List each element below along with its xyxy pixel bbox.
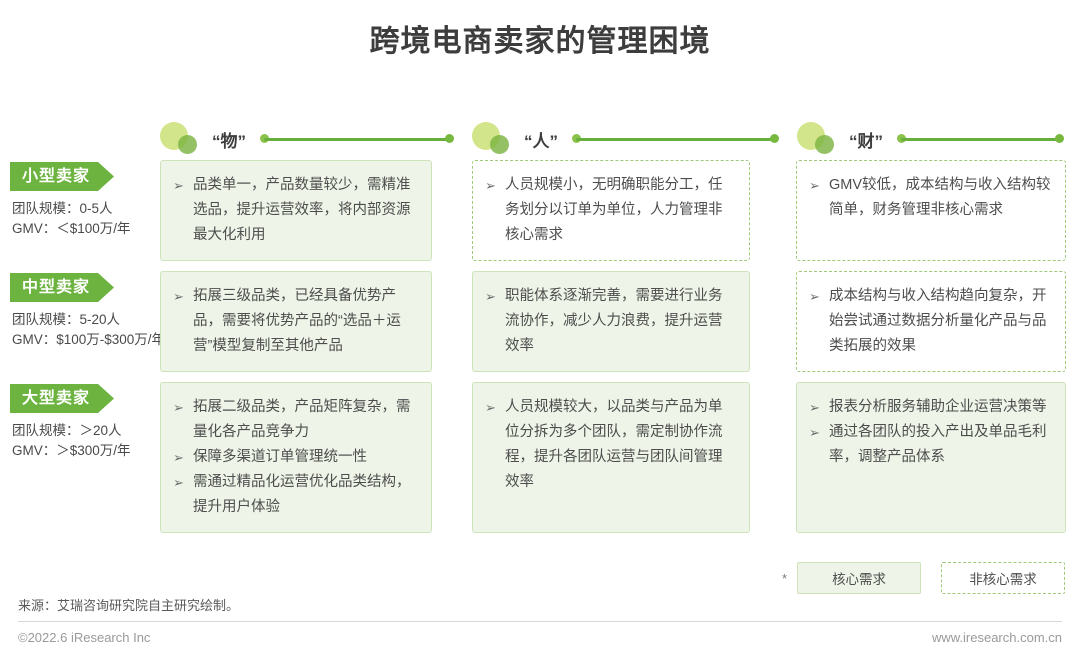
list-item: 成本结构与收入结构趋向复杂，开始尝试通过数据分析量化产品与品类拓展的效果 bbox=[809, 284, 1051, 359]
circle-small-icon bbox=[178, 135, 197, 154]
legend-noncore: 非核心需求 bbox=[941, 562, 1065, 594]
list-item: 拓展三级品类，已经具备优势产品，需要将优势产品的“选品＋运营”模型复制至其他产品 bbox=[173, 284, 417, 359]
table-row: 小型卖家 团队规模：0-5人 GMV：＜$100万/年 品类单一，产品数量较少，… bbox=[0, 160, 1080, 261]
row-label-small-seller: 小型卖家 团队规模：0-5人 GMV：＜$100万/年 bbox=[10, 160, 160, 261]
bullet-list: GMV较低，成本结构与收入结构较简单，财务管理非核心需求 bbox=[809, 173, 1051, 223]
bullet-list: 人员规模小，无明确职能分工，任务划分以订单为单位，人力管理非核心需求 bbox=[485, 173, 735, 248]
row-meta: 团队规模：5-20人 GMV：$100万-$300万/年 bbox=[10, 310, 160, 350]
matrix-board: “物” “人” “财” bbox=[0, 118, 1080, 543]
gmv: GMV：$100万-$300万/年 bbox=[12, 330, 160, 350]
row-tag: 小型卖家 bbox=[10, 162, 114, 191]
table-row: 大型卖家 团队规模：＞20人 GMV：＞$300万/年 拓展二级品类，产品矩阵复… bbox=[0, 382, 1080, 533]
column-header-wu: “物” bbox=[160, 118, 472, 160]
header-rule bbox=[572, 134, 779, 144]
row-meta: 团队规模：＞20人 GMV：＞$300万/年 bbox=[10, 421, 160, 461]
column-header-row: “物” “人” “财” bbox=[0, 118, 1080, 160]
rule-bar bbox=[576, 138, 775, 141]
cell-medium-wu: 拓展三级品类，已经具备优势产品，需要将优势产品的“选品＋运营”模型复制至其他产品 bbox=[160, 271, 432, 372]
two-circles-icon bbox=[797, 122, 843, 156]
list-item: 品类单一，产品数量较少，需精准选品，提升运营效率，将内部资源最大化利用 bbox=[173, 173, 417, 248]
list-item: 拓展二级品类，产品矩阵复杂，需量化各产品竞争力 bbox=[173, 395, 417, 445]
row-tag: 中型卖家 bbox=[10, 273, 114, 302]
gmv: GMV：＞$300万/年 bbox=[12, 441, 160, 461]
list-item: GMV较低，成本结构与收入结构较简单，财务管理非核心需求 bbox=[809, 173, 1051, 223]
list-item: 保障多渠道订单管理统一性 bbox=[173, 445, 417, 470]
two-circles-icon bbox=[472, 122, 518, 156]
list-item: 报表分析服务辅助企业运营决策等 bbox=[809, 395, 1051, 420]
rule-cap-right-icon bbox=[445, 134, 454, 143]
source-note: 来源：艾瑞咨询研究院自主研究绘制。 bbox=[18, 595, 239, 614]
legend-core: 核心需求 bbox=[797, 562, 921, 594]
column-header-ren: “人” bbox=[472, 118, 797, 160]
rule-bar bbox=[264, 138, 450, 141]
bullet-list: 成本结构与收入结构趋向复杂，开始尝试通过数据分析量化产品与品类拓展的效果 bbox=[809, 284, 1051, 359]
bullet-list: 人员规模较大，以品类与产品为单位分拆为多个团队，需定制协作流程，提升各团队运营与… bbox=[485, 395, 735, 495]
cell-small-wu: 品类单一，产品数量较少，需精准选品，提升运营效率，将内部资源最大化利用 bbox=[160, 160, 432, 261]
website-url: www.iresearch.com.cn bbox=[932, 630, 1062, 645]
copyright: ©2022.6 iResearch Inc bbox=[18, 630, 150, 645]
column-label: “财” bbox=[849, 127, 883, 152]
row-meta: 团队规模：0-5人 GMV：＜$100万/年 bbox=[10, 199, 160, 239]
circle-small-icon bbox=[815, 135, 834, 154]
gmv: GMV：＜$100万/年 bbox=[12, 219, 160, 239]
rule-cap-right-icon bbox=[770, 134, 779, 143]
column-label: “人” bbox=[524, 127, 558, 152]
header-rule bbox=[260, 134, 454, 144]
circle-small-icon bbox=[490, 135, 509, 154]
bullet-list: 拓展三级品类，已经具备优势产品，需要将优势产品的“选品＋运营”模型复制至其他产品 bbox=[173, 284, 417, 359]
row-tag: 大型卖家 bbox=[10, 384, 114, 413]
cell-medium-ren: 职能体系逐渐完善，需要进行业务流协作，减少人力浪费，提升运营效率 bbox=[472, 271, 750, 372]
row-label-medium-seller: 中型卖家 团队规模：5-20人 GMV：$100万-$300万/年 bbox=[10, 271, 160, 372]
team-size: 团队规模：＞20人 bbox=[12, 421, 160, 441]
bullet-list: 报表分析服务辅助企业运营决策等 通过各团队的投入产出及单品毛利率，调整产品体系 bbox=[809, 395, 1051, 470]
bullet-list: 品类单一，产品数量较少，需精准选品，提升运营效率，将内部资源最大化利用 bbox=[173, 173, 417, 248]
cell-large-wu: 拓展二级品类，产品矩阵复杂，需量化各产品竞争力 保障多渠道订单管理统一性 需通过… bbox=[160, 382, 432, 533]
bullet-list: 职能体系逐渐完善，需要进行业务流协作，减少人力浪费，提升运营效率 bbox=[485, 284, 735, 359]
rule-cap-right-icon bbox=[1055, 134, 1064, 143]
bullet-list: 拓展二级品类，产品矩阵复杂，需量化各产品竞争力 保障多渠道订单管理统一性 需通过… bbox=[173, 395, 417, 520]
list-item: 人员规模小，无明确职能分工，任务划分以订单为单位，人力管理非核心需求 bbox=[485, 173, 735, 248]
cell-large-ren: 人员规模较大，以品类与产品为单位分拆为多个团队，需定制协作流程，提升各团队运营与… bbox=[472, 382, 750, 533]
page-title: 跨境电商卖家的管理困境 bbox=[0, 0, 1080, 64]
list-item: 通过各团队的投入产出及单品毛利率，调整产品体系 bbox=[809, 420, 1051, 470]
list-item: 需通过精品化运营优化品类结构，提升用户体验 bbox=[173, 470, 417, 520]
team-size: 团队规模：0-5人 bbox=[12, 199, 160, 219]
cell-small-ren: 人员规模小，无明确职能分工，任务划分以订单为单位，人力管理非核心需求 bbox=[472, 160, 750, 261]
rule-bar bbox=[901, 138, 1060, 141]
legend: * 核心需求 非核心需求 bbox=[782, 562, 1065, 594]
list-item: 职能体系逐渐完善，需要进行业务流协作，减少人力浪费，提升运营效率 bbox=[485, 284, 735, 359]
footer-divider bbox=[18, 621, 1062, 622]
header-rule bbox=[897, 134, 1064, 144]
table-row: 中型卖家 团队规模：5-20人 GMV：$100万-$300万/年 拓展三级品类… bbox=[0, 271, 1080, 372]
column-header-cai: “财” bbox=[797, 118, 1080, 160]
two-circles-icon bbox=[160, 122, 206, 156]
row-label-large-seller: 大型卖家 团队规模：＞20人 GMV：＞$300万/年 bbox=[10, 382, 160, 533]
legend-marker: * bbox=[782, 571, 787, 586]
list-item: 人员规模较大，以品类与产品为单位分拆为多个团队，需定制协作流程，提升各团队运营与… bbox=[485, 395, 735, 495]
column-label: “物” bbox=[212, 127, 246, 152]
cell-small-cai: GMV较低，成本结构与收入结构较简单，财务管理非核心需求 bbox=[796, 160, 1066, 261]
cell-large-cai: 报表分析服务辅助企业运营决策等 通过各团队的投入产出及单品毛利率，调整产品体系 bbox=[796, 382, 1066, 533]
team-size: 团队规模：5-20人 bbox=[12, 310, 160, 330]
cell-medium-cai: 成本结构与收入结构趋向复杂，开始尝试通过数据分析量化产品与品类拓展的效果 bbox=[796, 271, 1066, 372]
